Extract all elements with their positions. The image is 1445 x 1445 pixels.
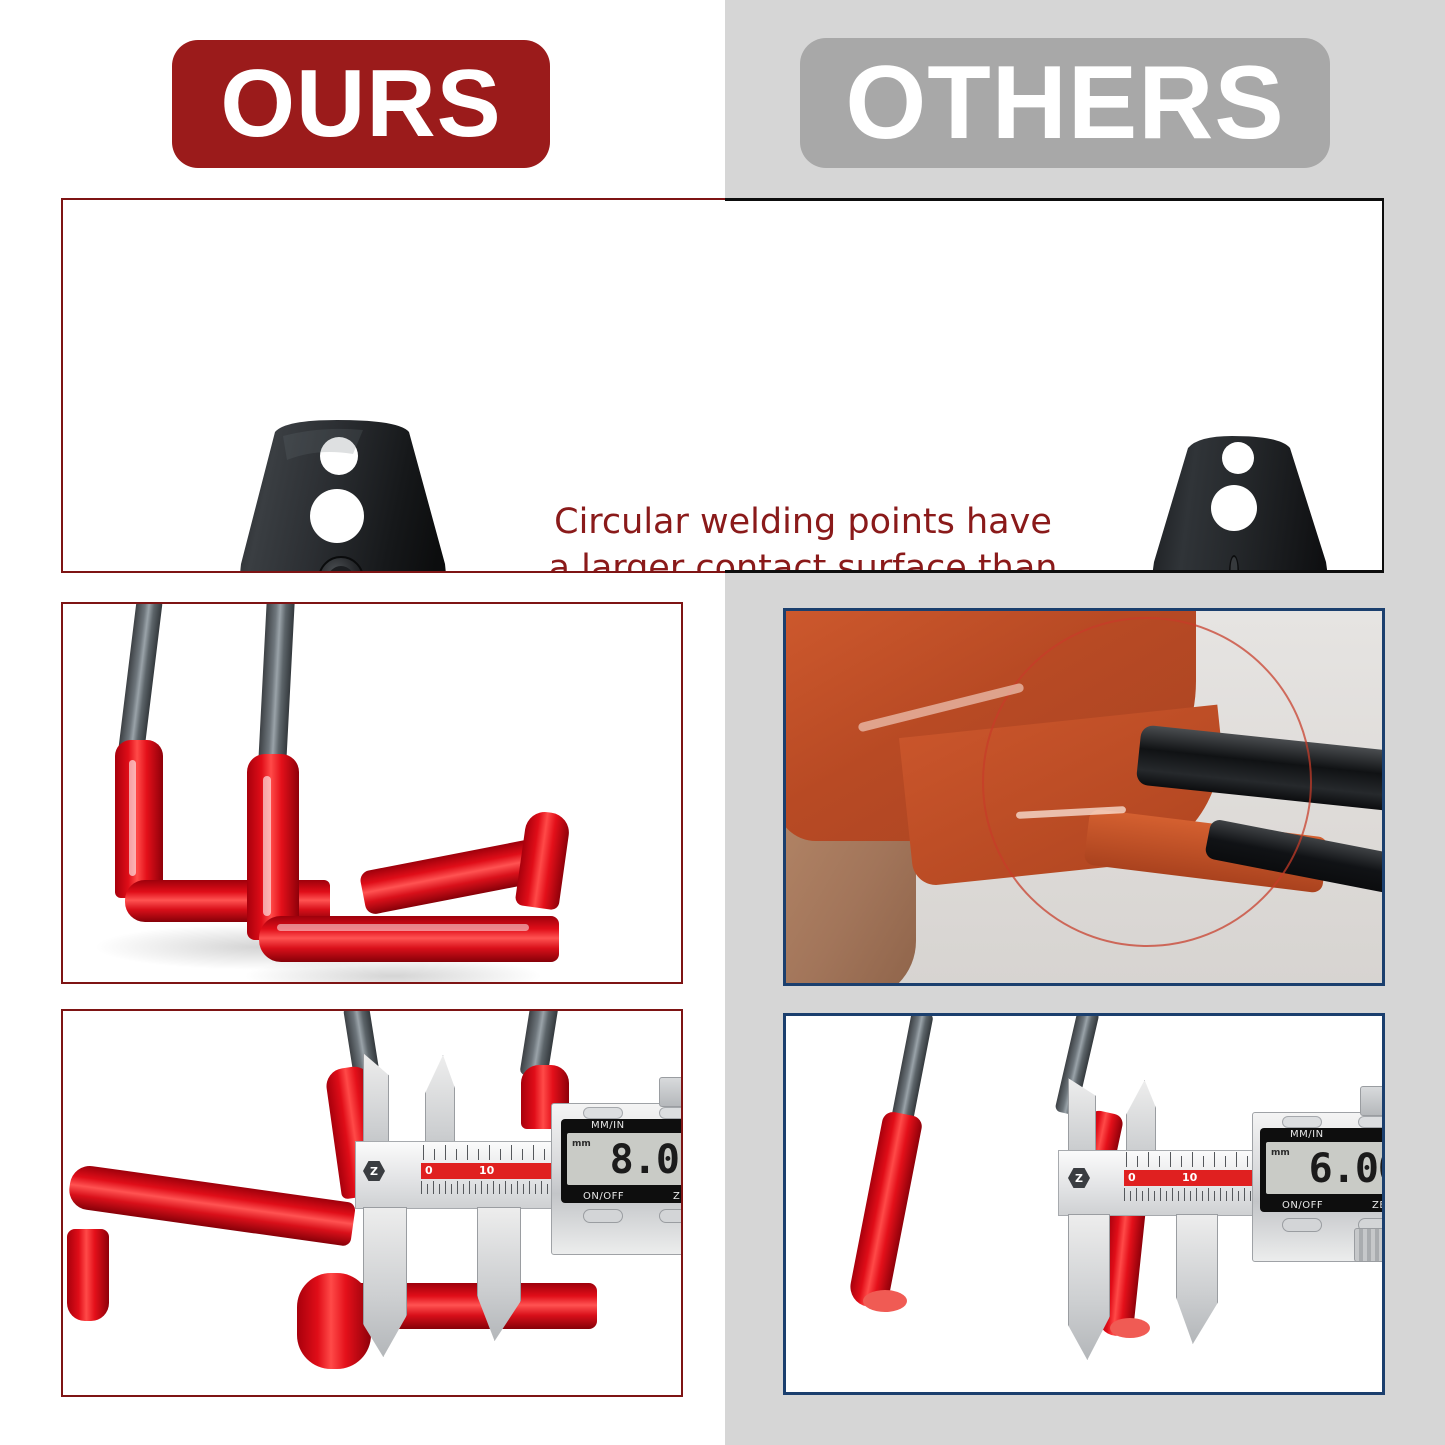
caliper-button-on-off[interactable] (583, 1209, 623, 1223)
panel-others-caliper-measurement: Z 0 10 IP54 (783, 1013, 1385, 1395)
scale-tick-10: 10 (479, 1164, 494, 1177)
caliper-lcd-screen: mm 6.00 (1266, 1142, 1385, 1194)
display-label-mm-in: MM/IN (1290, 1129, 1324, 1140)
caliper-lower-jaw (1176, 1214, 1218, 1344)
hook-red-tip (67, 1229, 109, 1321)
panel-ours-thick-pvc-hooks (61, 602, 683, 984)
brand-mark-label: Z (370, 1165, 378, 1178)
gloss-highlight (263, 776, 271, 916)
caliper-button-upper-right[interactable] (1358, 1116, 1385, 1128)
callout-line-2: a larger contact surface than (503, 546, 1103, 574)
caliper-reading-value: 8.00 (610, 1137, 683, 1183)
gloss-highlight (129, 760, 136, 876)
caliper-button-upper-right[interactable] (659, 1107, 683, 1119)
display-label-zero: ZERO (673, 1191, 683, 1202)
caliper-thumb-screw (1360, 1086, 1385, 1116)
caliper-lower-jaw (363, 1207, 407, 1357)
caliper-ticks-lower (1122, 1188, 1258, 1202)
welding-callout-text: Circular welding points have a larger co… (503, 500, 1103, 573)
display-label-abs: ABS (1383, 1129, 1385, 1140)
panel-others-pvc-sleeve-peeling (783, 608, 1385, 986)
others-caliper-scene: Z 0 10 IP54 (786, 1016, 1382, 1392)
caliper-display-bezel: MM/IN ABS mm 6.00 ON/OFF ZERO (1260, 1128, 1385, 1212)
display-label-on-off: ON/OFF (583, 1191, 624, 1202)
hook-steel-tube (890, 1013, 934, 1128)
hook-red-endcap (863, 1290, 907, 1312)
caliper-ticks-upper (1124, 1152, 1256, 1168)
display-label-zero: ZERO (1372, 1200, 1385, 1211)
others-sleeve-scene (786, 611, 1382, 983)
hook-red-horizontal (259, 916, 559, 962)
ours-badge-label: OURS (220, 56, 501, 152)
caliper-grip-knurling (1354, 1228, 1385, 1262)
scale-tick-0: 0 (1128, 1171, 1136, 1184)
lcd-unit-label: mm (1271, 1148, 1290, 1158)
ours-caliper-scene: Z 0 10 (63, 1011, 681, 1395)
caliper-ticks-lower (419, 1181, 555, 1195)
ours-badge: OURS (172, 40, 550, 168)
caliper-lower-jaw (1068, 1214, 1110, 1360)
caliper-lcd-screen: mm 8.00 (567, 1133, 683, 1185)
brand-mark-label: Z (1075, 1172, 1083, 1185)
ours-bracket-plate-illustration (213, 414, 513, 573)
hook-red-endcap (1110, 1318, 1150, 1338)
annotation-circle (982, 617, 1312, 947)
scale-tick-10: 10 (1182, 1171, 1197, 1184)
hook-red-vertical (115, 740, 163, 898)
caliper-button-on-off[interactable] (1282, 1218, 1322, 1232)
lcd-unit-label: mm (572, 1139, 591, 1149)
caliper-scale-red-band: 0 10 (1124, 1170, 1254, 1186)
hook-steel-tube (118, 602, 163, 758)
scale-tick-0: 0 (425, 1164, 433, 1177)
others-bracket-plate-illustration (1128, 432, 1378, 573)
caliper-reading-value: 6.00 (1309, 1146, 1385, 1192)
others-badge-label: OTHERS (845, 51, 1284, 155)
hook-red-horizontal (67, 1163, 356, 1246)
caliper-button-upper-left[interactable] (583, 1107, 623, 1119)
hook-red-vertical (247, 754, 299, 940)
panel-ours-caliper-measurement: Z 0 10 (61, 1009, 683, 1397)
caliper-button-upper-left[interactable] (1282, 1116, 1322, 1128)
display-label-mm-in: MM/IN (591, 1120, 625, 1131)
panel-welding-point-comparison: Circular welding points have a larger co… (61, 198, 1384, 573)
gloss-highlight (277, 924, 529, 931)
display-label-on-off: ON/OFF (1282, 1200, 1323, 1211)
hook-red-sleeve (847, 1110, 924, 1310)
caliper-ticks-upper (421, 1145, 553, 1161)
caliper-thumb-screw (659, 1077, 683, 1107)
ours-hooks-scene (63, 604, 681, 982)
caliper-button-zero[interactable] (659, 1209, 683, 1223)
hook-red-tip (515, 809, 572, 910)
hook-red-endcap (297, 1273, 371, 1369)
hook-steel-tube (257, 602, 294, 778)
caliper-scale-red-band: 0 10 (421, 1163, 551, 1179)
caliper-display-bezel: MM/IN ABS mm 8.00 ON/OFF ZERO (561, 1119, 683, 1203)
others-badge: OTHERS (800, 38, 1330, 168)
callout-line-1: Circular welding points have (503, 500, 1103, 546)
